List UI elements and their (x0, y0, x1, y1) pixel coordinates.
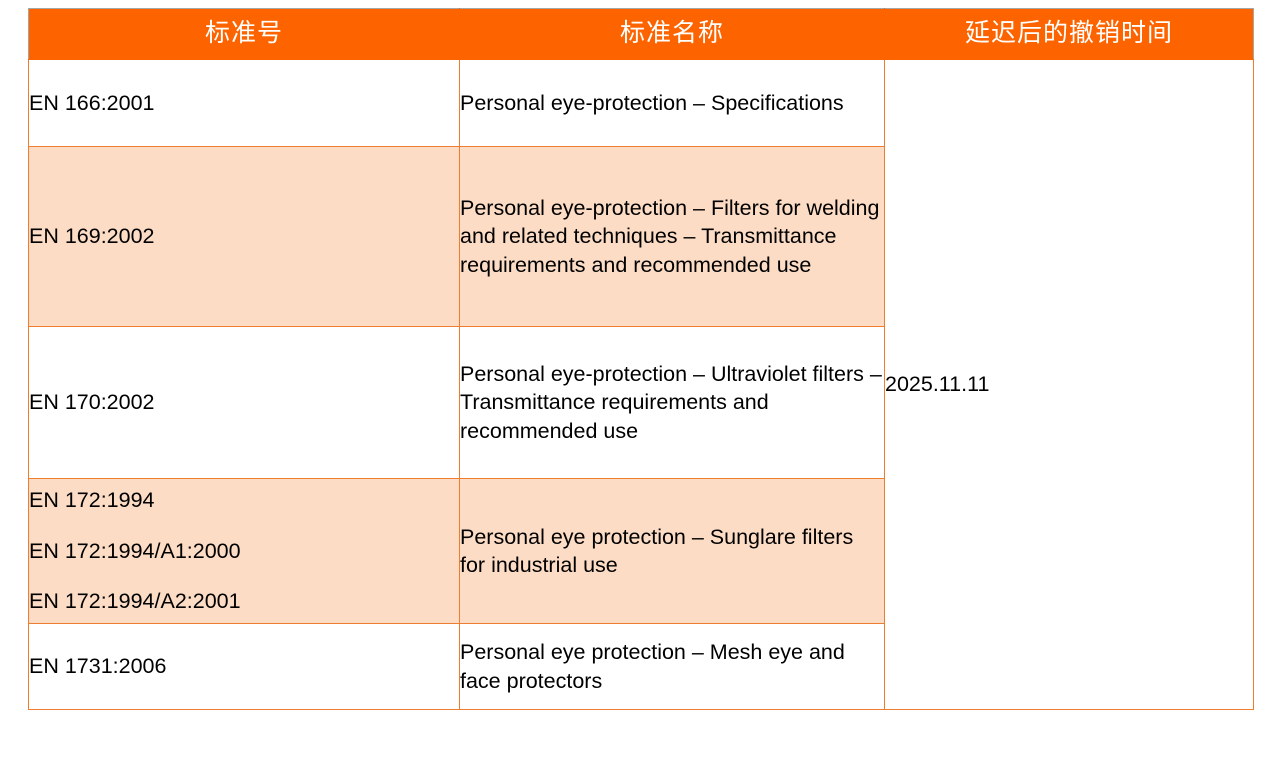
column-header-revocation-date: 延迟后的撤销时间 (885, 9, 1254, 60)
cell-standard-number: EN 172:1994 EN 172:1994/A1:2000 EN 172:1… (29, 479, 460, 624)
standard-number-line: EN 166:2001 (29, 89, 459, 117)
table-row: EN 166:2001 Personal eye-protection – Sp… (29, 60, 1254, 147)
standard-number-line: EN 172:1994 (29, 486, 459, 514)
cell-standard-number: EN 166:2001 (29, 60, 460, 147)
standard-number-line: EN 1731:2006 (29, 652, 459, 680)
cell-standard-number: EN 170:2002 (29, 327, 460, 479)
table-body: EN 166:2001 Personal eye-protection – Sp… (29, 60, 1254, 710)
standards-table-container: 标准号 标准名称 延迟后的撤销时间 EN 166:2001 Personal e… (28, 8, 1253, 710)
cell-standard-name: Personal eye-protection – Specifications (460, 60, 885, 147)
cell-standard-number: EN 169:2002 (29, 147, 460, 327)
cell-standard-name: Personal eye-protection – Ultraviolet fi… (460, 327, 885, 479)
table-header-row: 标准号 标准名称 延迟后的撤销时间 (29, 9, 1254, 60)
standard-number-line: EN 169:2002 (29, 222, 459, 250)
cell-standard-name: Personal eye protection – Mesh eye and f… (460, 624, 885, 710)
cell-standard-number: EN 1731:2006 (29, 624, 460, 710)
standard-number-line: EN 172:1994/A2:2001 (29, 587, 459, 615)
table-header: 标准号 标准名称 延迟后的撤销时间 (29, 9, 1254, 60)
cell-standard-name: Personal eye protection – Sunglare filte… (460, 479, 885, 624)
standard-number-line: EN 172:1994/A1:2000 (29, 537, 459, 565)
column-header-standard-name: 标准名称 (460, 9, 885, 60)
standards-table: 标准号 标准名称 延迟后的撤销时间 EN 166:2001 Personal e… (28, 8, 1254, 710)
column-header-standard-number: 标准号 (29, 9, 460, 60)
cell-standard-name: Personal eye-protection – Filters for we… (460, 147, 885, 327)
standard-number-line: EN 170:2002 (29, 388, 459, 416)
cell-revocation-date: 2025.11.11 (885, 60, 1254, 710)
